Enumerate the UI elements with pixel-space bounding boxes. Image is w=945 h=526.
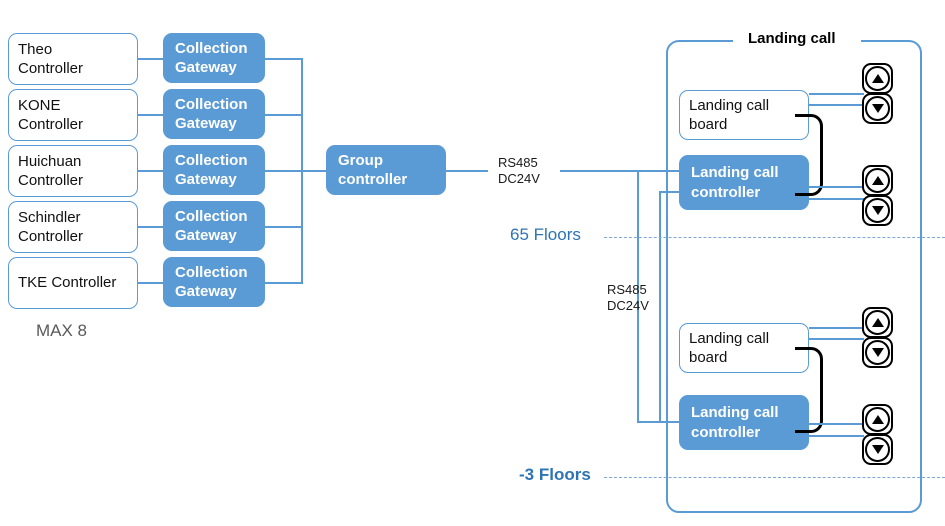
controller-box-tke[interactable]: TKE Controller — [8, 257, 138, 309]
controller-box-schindler[interactable]: SchindlerController — [8, 201, 138, 253]
call-button-up-upper-1[interactable] — [862, 63, 893, 94]
arrow-up-icon — [865, 66, 890, 91]
collection-gateway-4[interactable]: CollectionGateway — [163, 201, 265, 251]
gateway-stub-5 — [265, 282, 303, 284]
wire-lower-btn1-up — [809, 327, 864, 329]
call-button-down-lower-1[interactable] — [862, 337, 893, 368]
link-tke-gateway — [138, 282, 163, 284]
link-huichuan-gateway — [138, 170, 163, 172]
group-controller-box[interactable]: Groupcontroller — [326, 145, 446, 195]
controller-label: Landing callcontroller — [691, 163, 797, 201]
gateway-stub-1 — [265, 58, 303, 60]
arrow-up-icon — [865, 310, 890, 335]
wire-lower-btn2-down — [809, 435, 864, 437]
landing-call-title: Landing call — [741, 30, 843, 49]
landing-call-board-upper[interactable]: Landing callboard — [679, 90, 809, 140]
floor-marker-top-label: 65 Floors — [510, 224, 581, 245]
floor-marker-top-dashline — [604, 237, 945, 238]
collection-gateway-1[interactable]: CollectionGateway — [163, 33, 265, 83]
wire-upper-btn2-down — [809, 198, 864, 200]
arrow-down-icon — [865, 96, 890, 121]
board-label: Landing callboard — [689, 96, 799, 135]
collection-gateway-5[interactable]: CollectionGateway — [163, 257, 265, 307]
gateway-label: CollectionGateway — [175, 39, 253, 77]
wire-upper-btn2-up — [809, 186, 864, 188]
wire-upper-btn1-up — [809, 93, 864, 95]
arrow-down-icon — [865, 198, 890, 223]
controller-label: Landing callcontroller — [691, 403, 797, 441]
gateway-label: CollectionGateway — [175, 95, 253, 133]
collection-gateway-2[interactable]: CollectionGateway — [163, 89, 265, 139]
controller-label: HuichuanController — [18, 152, 128, 191]
controller-label: KONEController — [18, 96, 128, 135]
floor-marker-bottom-label: -3 Floors — [519, 464, 591, 485]
gateway-stub-2 — [265, 114, 303, 116]
rs485-label-top: RS485DC24V — [498, 155, 540, 188]
board-label: Landing callboard — [689, 329, 799, 368]
feeder-riser-vertical — [659, 191, 661, 422]
controller-label: TheoController — [18, 40, 128, 79]
call-button-down-lower-2[interactable] — [862, 434, 893, 465]
gateway-stub-3 — [265, 170, 303, 172]
call-button-down-upper-1[interactable] — [862, 93, 893, 124]
gateway-label: CollectionGateway — [175, 151, 253, 189]
group-controller-label: Groupcontroller — [338, 151, 434, 189]
floor-marker-bottom-dashline — [604, 477, 945, 478]
diagram-canvas: TheoController KONEController HuichuanCo… — [0, 0, 945, 526]
gateway-stub-4 — [265, 226, 303, 228]
landing-call-controller-lower[interactable]: Landing callcontroller — [679, 395, 809, 450]
landing-call-board-lower[interactable]: Landing callboard — [679, 323, 809, 373]
board-controller-jumper-lower — [795, 347, 823, 433]
arrow-up-icon — [865, 168, 890, 193]
link-bus-group-controller — [301, 170, 327, 172]
link-kone-gateway — [138, 114, 163, 116]
arrow-up-icon — [865, 407, 890, 432]
call-button-down-upper-2[interactable] — [862, 195, 893, 226]
controller-box-kone[interactable]: KONEController — [8, 89, 138, 141]
arrow-down-icon — [865, 340, 890, 365]
gateway-label: CollectionGateway — [175, 207, 253, 245]
controller-box-theo[interactable]: TheoController — [8, 33, 138, 85]
link-group-to-rs485-b — [560, 170, 640, 172]
link-theo-gateway — [138, 58, 163, 60]
controller-label: SchindlerController — [18, 208, 128, 247]
controller-box-huichuan[interactable]: HuichuanController — [8, 145, 138, 197]
gateway-label: CollectionGateway — [175, 263, 253, 301]
wire-upper-btn1-down — [809, 104, 864, 106]
arrow-down-icon — [865, 437, 890, 462]
rs485-label-bottom: RS485DC24V — [607, 282, 649, 315]
landing-call-controller-upper[interactable]: Landing callcontroller — [679, 155, 809, 210]
link-schindler-gateway — [138, 226, 163, 228]
wire-lower-btn2-up — [809, 423, 864, 425]
controller-label: TKE Controller — [18, 273, 128, 293]
call-button-up-lower-1[interactable] — [862, 307, 893, 338]
call-button-up-upper-2[interactable] — [862, 165, 893, 196]
call-button-up-lower-2[interactable] — [862, 404, 893, 435]
collection-gateway-3[interactable]: CollectionGateway — [163, 145, 265, 195]
wire-lower-btn1-down — [809, 338, 864, 340]
link-group-to-rs485-a — [446, 170, 488, 172]
max-units-note: MAX 8 — [36, 320, 87, 341]
board-controller-jumper-upper — [795, 114, 823, 196]
